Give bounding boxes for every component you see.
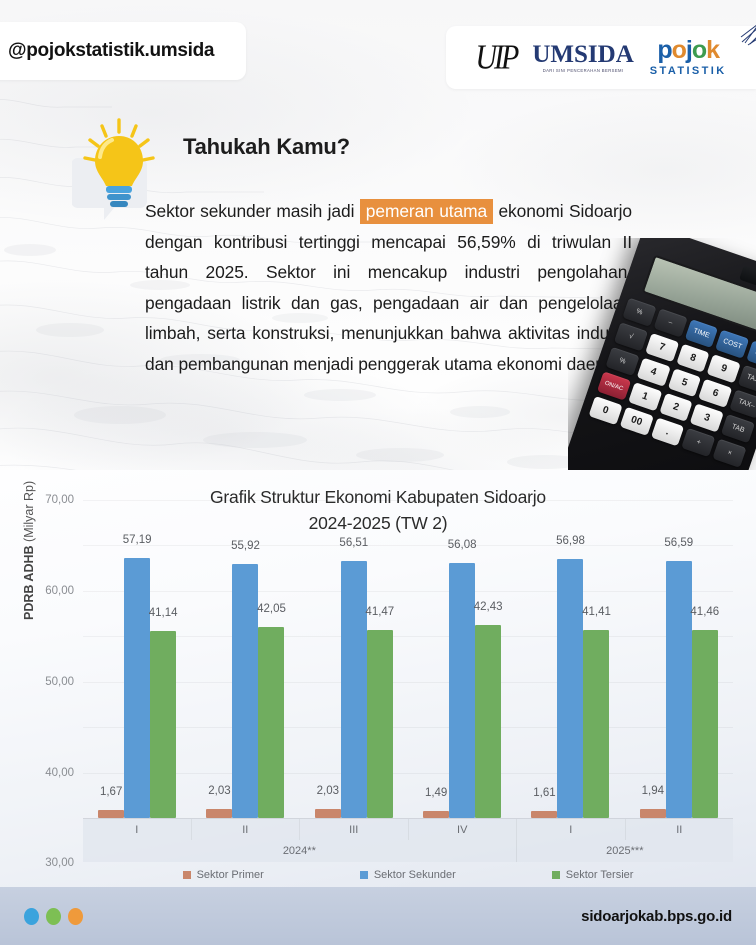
bar-fill [315, 809, 341, 818]
bar-fill [98, 810, 124, 818]
bar-fill [367, 630, 393, 818]
legend-item[interactable]: Sektor Tersier [552, 869, 634, 881]
infographic-page: @pojokstatistik.umsida UIP UMSIDA DARI S… [0, 0, 756, 945]
footer-dot [68, 908, 83, 925]
x-axis-tick-label: I [83, 819, 192, 840]
legend-label: Sektor Tersier [566, 869, 634, 881]
bar-value-label: 41,46 [690, 606, 719, 618]
legend-item[interactable]: Sektor Primer [183, 869, 264, 881]
y-axis-tick-label: 30,00 [45, 857, 74, 869]
y-axis-tick-label: 40,00 [45, 767, 74, 779]
footer-website-url: sidoarjokab.bps.go.id [581, 908, 732, 925]
account-handle-text: @pojokstatistik.umsida [8, 40, 214, 62]
legend-item[interactable]: Sektor Sekunder [360, 869, 456, 881]
bar-fill [423, 811, 449, 818]
body-text-before: Sektor sekunder masih jadi [145, 201, 360, 221]
pojok-logo-wordmark: pojok [657, 38, 719, 63]
bar-value-label: 41,47 [365, 606, 394, 618]
y-axis-tick-label: 70,00 [45, 494, 74, 506]
bar-value-label: 57,19 [123, 534, 152, 546]
bar-fill [341, 561, 367, 818]
footer-dot [24, 908, 39, 925]
uip-logo: UIP [475, 40, 516, 75]
pojok-statistik-logo: pojok STATISTIK [650, 38, 727, 77]
legend-swatch [360, 871, 368, 879]
x-axis-tick-label: III [300, 819, 409, 840]
y-axis-label: PDRB ADHB (Milyar Rp) [22, 481, 36, 620]
umsida-logo: UMSIDA DARI SINI PENCERAHAN BERSEMI [532, 42, 633, 73]
bar-group: 2,0356,5141,47 [300, 500, 408, 818]
account-handle-badge: @pojokstatistik.umsida [0, 22, 246, 80]
umsida-burst-icon [738, 16, 756, 46]
bar-value-label: 56,98 [556, 535, 585, 547]
bar-value-label: 2,03 [208, 785, 230, 797]
chart-legend: Sektor PrimerSektor SekunderSektor Tersi… [83, 864, 733, 886]
bar-group: 1,4956,0842,43 [408, 500, 516, 818]
x-axis-group-label: 2024** [83, 840, 517, 862]
bar-fill [258, 627, 284, 818]
bar-fill [666, 561, 692, 818]
x-axis-tick-label: IV [409, 819, 518, 840]
legend-label: Sektor Primer [197, 869, 264, 881]
umsida-logo-wordmark: UMSIDA [532, 42, 633, 67]
page-title: Tahukah Kamu? [183, 134, 350, 160]
bar-fill [531, 811, 557, 818]
x-axis-tick-band: IIIIIIIVIII [83, 818, 733, 840]
bar-value-label: 42,05 [257, 603, 286, 615]
legend-label: Sektor Sekunder [374, 869, 456, 881]
legend-swatch [552, 871, 560, 879]
bar-value-label: 1,94 [642, 785, 664, 797]
bar-fill [640, 809, 666, 818]
chart-bar-groups: 1,6757,1941,142,0355,9242,052,0356,5141,… [83, 500, 733, 818]
umsida-logo-tagline: DARI SINI PENCERAHAN BERSEMI [543, 69, 624, 73]
bar-value-label: 56,59 [664, 537, 693, 549]
pojok-logo-subtitle: STATISTIK [650, 66, 727, 77]
bar-value-label: 42,43 [474, 601, 503, 613]
y-axis-tick-label: 60,00 [45, 585, 74, 597]
y-axis-tick-label: 50,00 [45, 676, 74, 688]
legend-swatch [183, 871, 191, 879]
bar-fill [692, 630, 718, 818]
body-text-after: ekonomi Sidoarjo dengan kontribusi terti… [145, 201, 632, 374]
bar-fill [583, 630, 609, 818]
y-axis-label-unit: (Milyar Rp) [22, 481, 36, 542]
x-axis-year-band: 2024**2025*** [83, 840, 733, 862]
footer-bar: sidoarjokab.bps.go.id [0, 887, 756, 945]
bar-fill [475, 625, 501, 818]
bar-group: 2,0355,9242,05 [191, 500, 299, 818]
bar-value-label: 56,08 [448, 539, 477, 551]
bar-fill [206, 809, 232, 818]
bar-value-label: 41,41 [582, 606, 611, 618]
bar-value-label: 1,49 [425, 787, 447, 799]
bar-fill [150, 631, 176, 818]
x-axis-group-label: 2025*** [517, 840, 733, 862]
y-axis-label-main: PDRB ADHB [22, 545, 36, 620]
bar-fill [449, 563, 475, 818]
x-axis-tick-label: II [626, 819, 734, 840]
x-axis-tick-label: II [192, 819, 301, 840]
footer-dot [46, 908, 61, 925]
logo-bar: UIP UMSIDA DARI SINI PENCERAHAN BERSEMI … [446, 26, 756, 89]
bar-fill [124, 558, 150, 818]
bar-value-label: 1,67 [100, 786, 122, 798]
footer-dot-group [24, 908, 83, 925]
bar-fill [557, 559, 583, 818]
bar-group: 1,6156,9841,41 [516, 500, 624, 818]
highlighted-phrase: pemeran utama [360, 199, 493, 224]
body-paragraph: Sektor sekunder masih jadi pemeran utama… [145, 196, 632, 379]
x-axis-tick-label: I [517, 819, 626, 840]
bar-group: 1,6757,1941,14 [83, 500, 191, 818]
bar-group: 1,9456,5941,46 [625, 500, 733, 818]
bar-value-label: 56,51 [339, 537, 368, 549]
bar-value-label: 2,03 [317, 785, 339, 797]
bar-fill [232, 564, 258, 818]
chart-plot-area: 70,0060,0050,0040,0030,0020,0010,000,00 … [83, 500, 733, 818]
bar-value-label: 41,14 [149, 607, 178, 619]
bar-value-label: 1,61 [533, 787, 555, 799]
bar-value-label: 55,92 [231, 540, 260, 552]
